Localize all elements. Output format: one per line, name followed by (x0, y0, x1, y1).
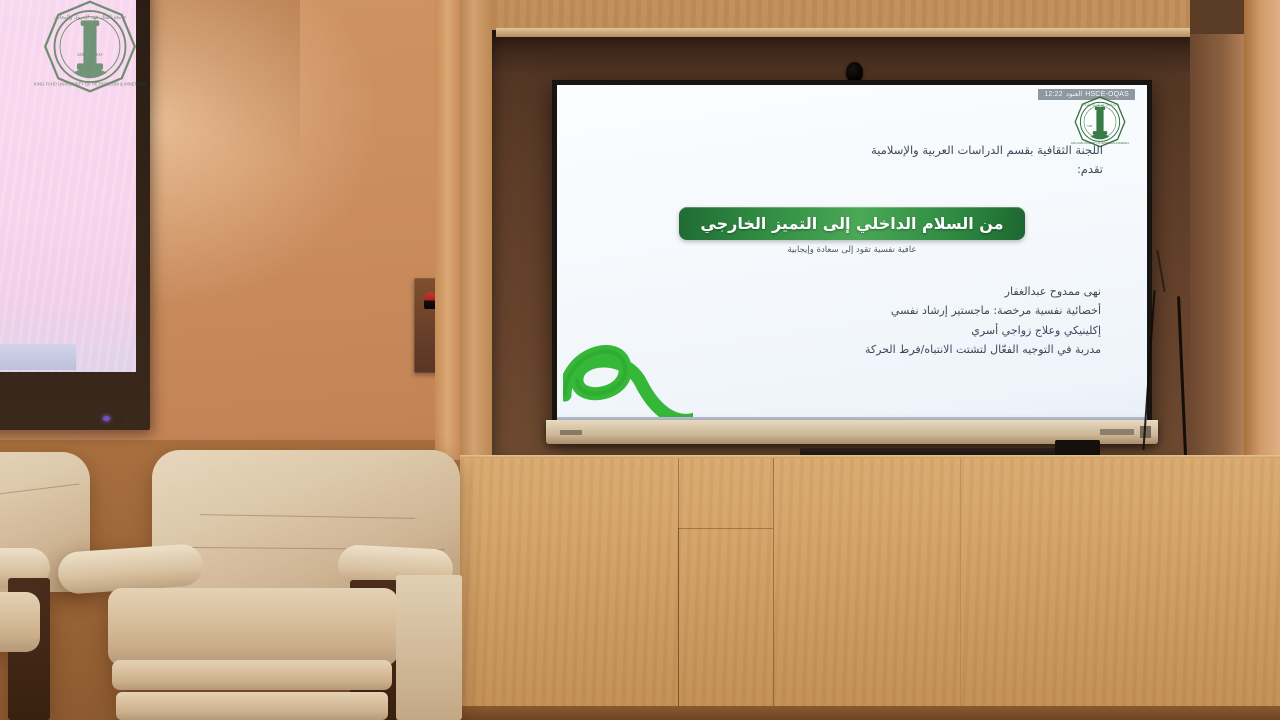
slide-header: اللجنة الثقافية بقسم الدراسات العربية وا… (763, 141, 1103, 179)
badge-time: 12:22 (1044, 91, 1063, 98)
cabinet-seam-2 (773, 458, 774, 720)
chair-main-seat (108, 588, 398, 666)
cabinet-baseboard (460, 706, 1280, 720)
svg-text:1963: 1963 (1087, 126, 1093, 128)
chair-main-footer (116, 692, 388, 720)
recess-top-trim (496, 28, 1248, 37)
display-control-left[interactable] (560, 430, 582, 435)
svg-text:جامعة الملك فهد للبترول والمعا: جامعة الملك فهد للبترول والمعادن (1081, 103, 1119, 106)
slide-header-line-2: تقدم: (763, 160, 1103, 179)
green-ribbon-decoration-icon (563, 299, 693, 429)
main-display[interactable]: HSCE-OQAS العنود 12:22 جامعة الملك فهد (552, 80, 1152, 440)
chair-main-side-wing (396, 575, 462, 720)
wall-pilaster-mid-right (1190, 34, 1246, 458)
secondary-display-sensor (125, 417, 130, 421)
chair-main-base (112, 660, 392, 690)
recess-right-column-top (1190, 0, 1246, 36)
cabinet-seam-4 (960, 458, 961, 720)
wall-pilaster-inner-left (460, 0, 494, 460)
svg-text:1963: 1963 (77, 52, 87, 57)
svg-text:جامعة الملك فهد للبترول والمعا: جامعة الملك فهد للبترول والمعادن (54, 15, 127, 21)
room-scene: جامعة الملك فهد للبترول والمعادن KING FA… (0, 0, 1280, 720)
slide-subtitle: عافية نفسية تقود إلى سعادة وإيجابية (787, 245, 916, 255)
speaker-credential-1: أخصائية نفسية مرخصة: ماجستير إرشاد نفسي (756, 301, 1101, 320)
svg-text:١٣٨٣: ١٣٨٣ (94, 52, 104, 57)
svg-text:KING FAHD UNIVERSITY OF PETROL: KING FAHD UNIVERSITY OF PETROLEUM & MINE… (34, 82, 146, 87)
speaker-credential-2: إكلينيكي وعلاج زواجي أسري (756, 321, 1101, 340)
speaker-credential-3: مدربة في التوجيه الفعّال لتشتت الانتباه/… (756, 340, 1101, 359)
presentation-slide: HSCE-OQAS العنود 12:22 جامعة الملك فهد (557, 85, 1147, 435)
main-display-screen[interactable]: HSCE-OQAS العنود 12:22 جامعة الملك فهد (557, 85, 1147, 435)
chair-left-seat (0, 592, 40, 652)
secondary-display-power-led (103, 416, 110, 421)
slide-title-banner: من السلام الداخلي إلى التميز الخارجي (679, 207, 1025, 240)
svg-text:١٣٨٣: ١٣٨٣ (1097, 125, 1103, 128)
lower-wood-cabinet (460, 458, 1280, 720)
speaker-info: نهى ممدوح عبدالغفار أخصائية نفسية مرخصة:… (756, 282, 1101, 359)
cabinet-seam-3 (678, 528, 679, 720)
cabinet-seam-horizontal (678, 528, 773, 529)
display-control-right[interactable] (1100, 429, 1134, 435)
secondary-display-footer-band (0, 344, 76, 370)
university-seal-icon-secondary: جامعة الملك فهد للبترول والمعادن KING FA… (28, 0, 152, 110)
wall-pilaster-right (1244, 0, 1280, 460)
speaker-name: نهى ممدوح عبدالغفار (756, 282, 1101, 301)
slide-header-line-1: اللجنة الثقافية بقسم الدراسات العربية وا… (763, 141, 1103, 160)
slide-title: من السلام الداخلي إلى التميز الخارجي (700, 214, 1003, 233)
